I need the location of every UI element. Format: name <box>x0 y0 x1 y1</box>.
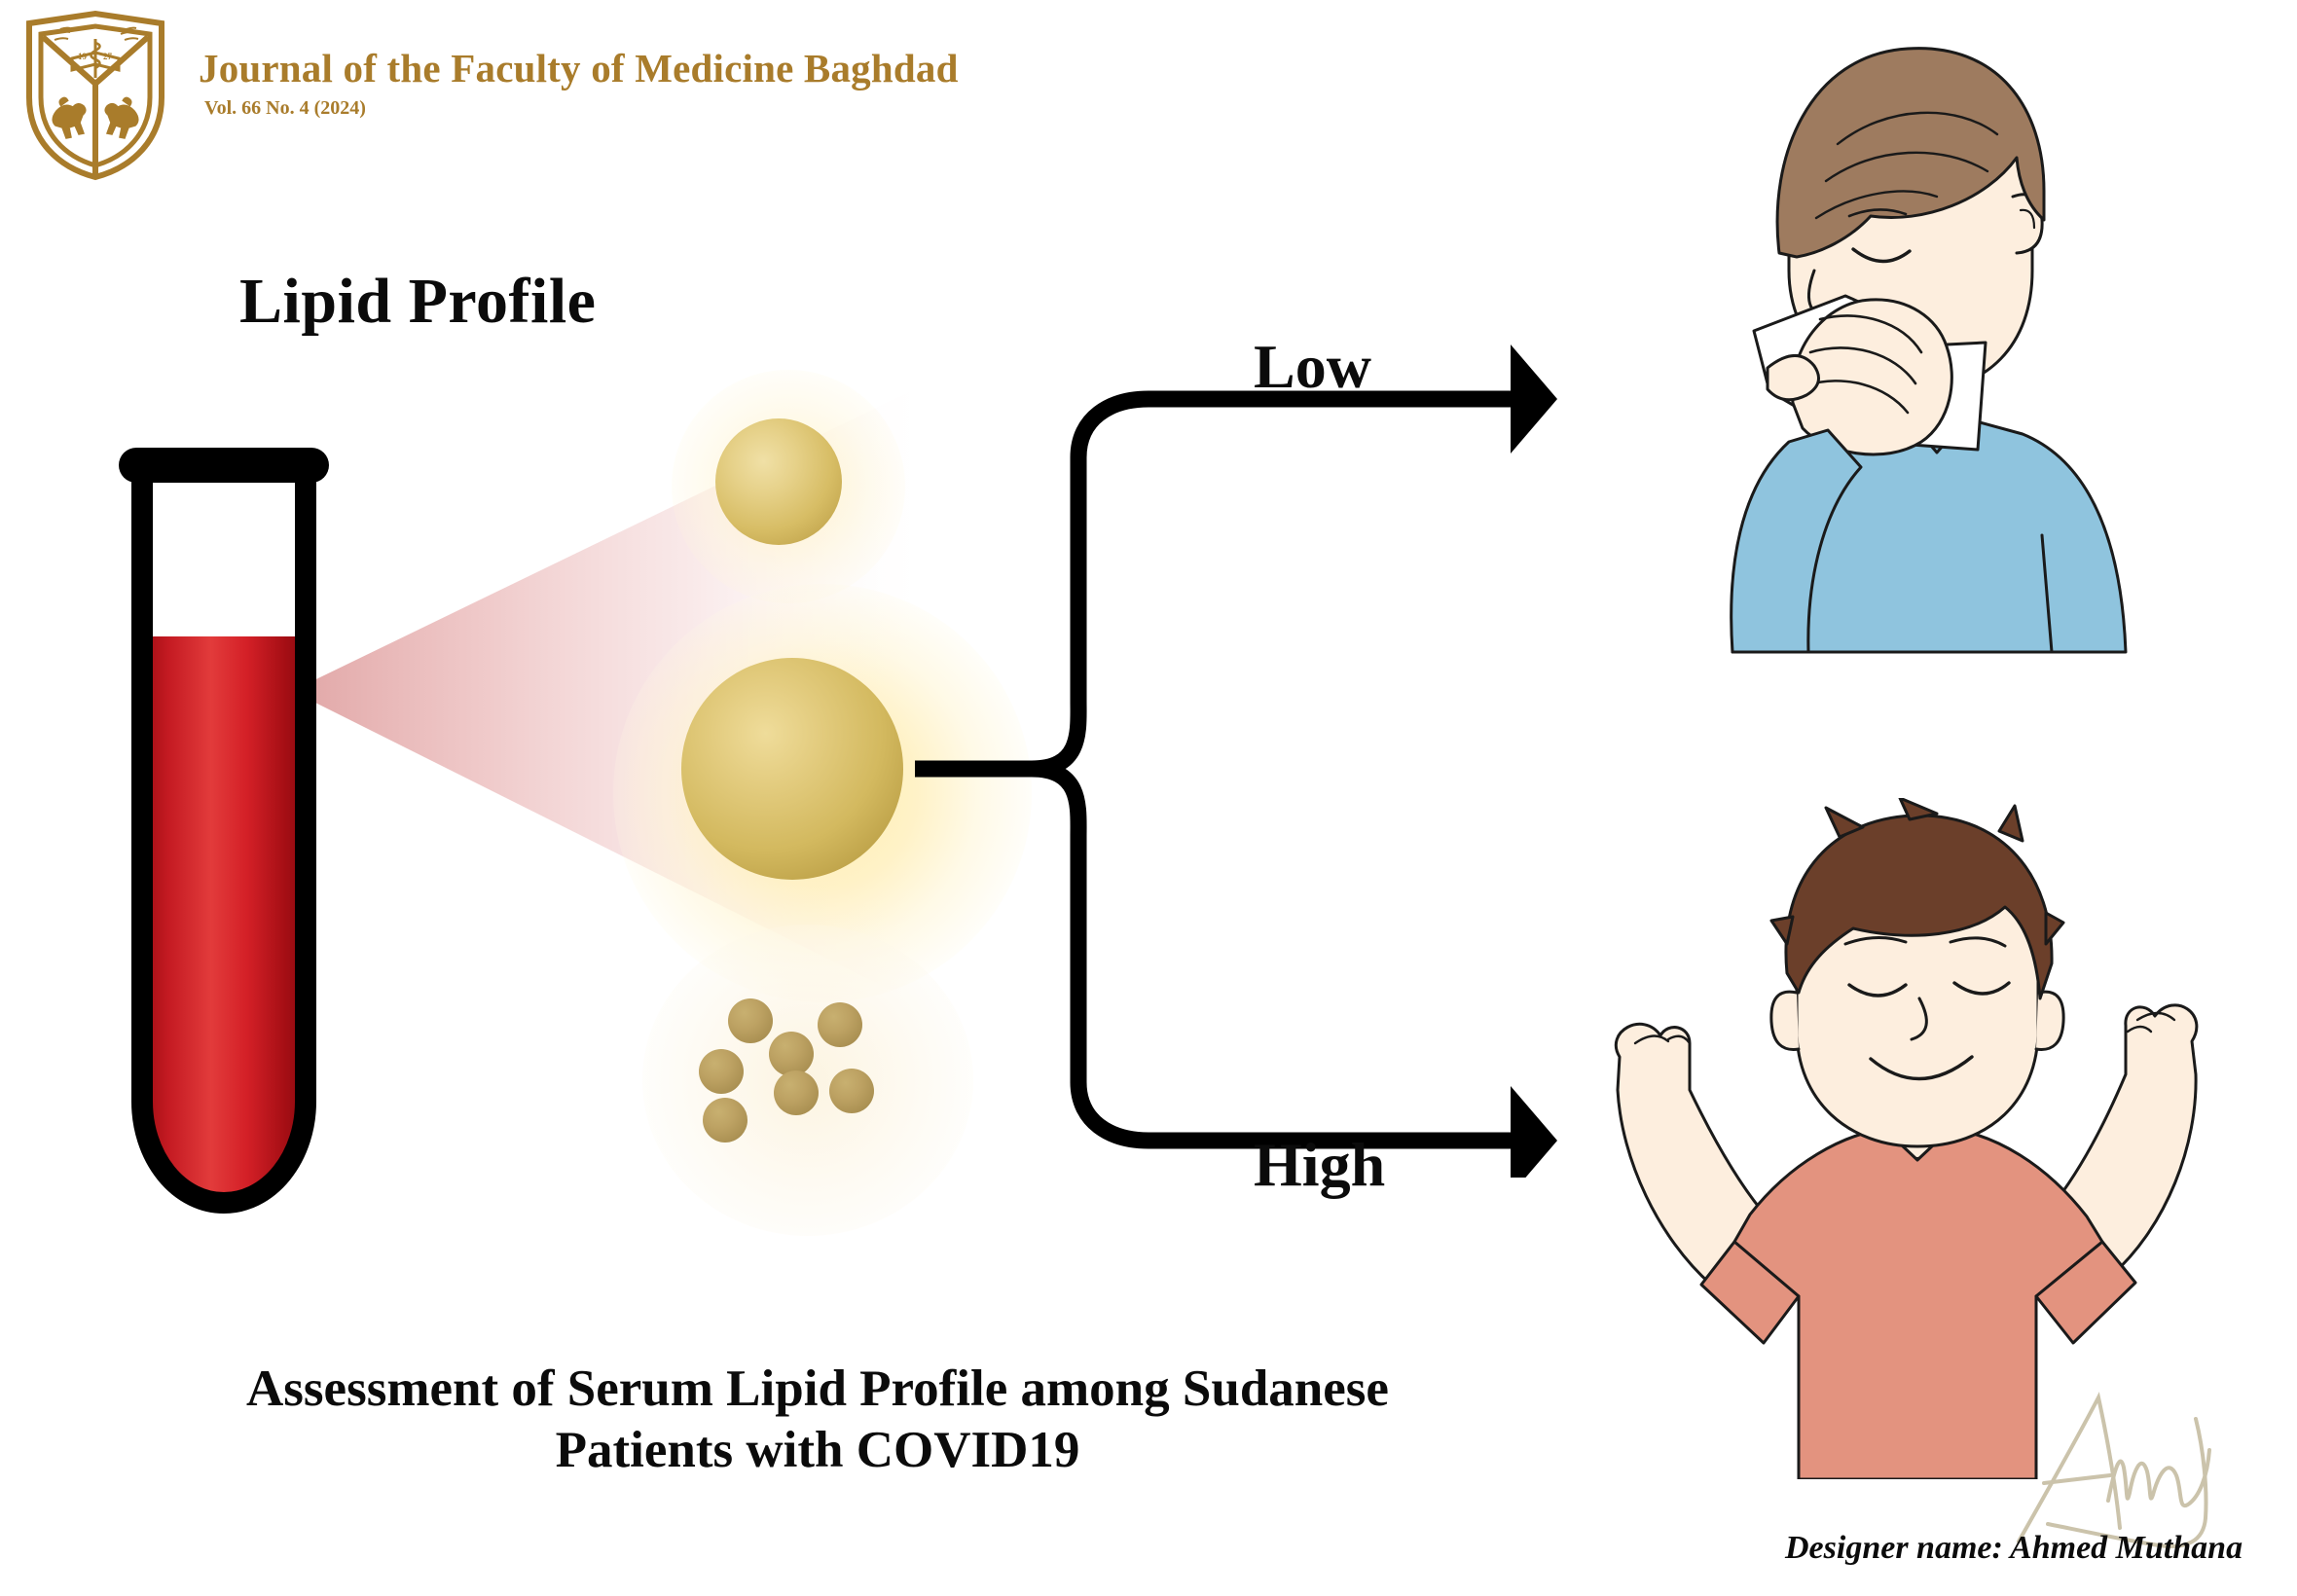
caption-line-1: Assessment of Serum Lipid Profile among … <box>58 1359 1577 1420</box>
crest-year-left: 19 <box>78 52 88 61</box>
caption-line-2: Patients with COVID19 <box>58 1420 1577 1481</box>
university-crest-icon: 19 27 <box>18 8 173 181</box>
lipid-droplet-small <box>703 1098 747 1143</box>
lipid-droplet-small <box>728 998 773 1043</box>
sick-person-icon <box>1616 10 2219 662</box>
arrow-right-icon <box>1511 345 1557 453</box>
journal-title: Journal of the Faculty of Medicine Baghd… <box>199 45 959 91</box>
lipid-droplet-medium <box>715 418 842 545</box>
poster-caption: Assessment of Serum Lipid Profile among … <box>58 1359 1577 1480</box>
crest-year-right: 27 <box>103 52 113 61</box>
arrow-right-icon <box>1511 1086 1557 1178</box>
branch-label-high: High <box>1254 1129 1385 1201</box>
designer-credit: Designer name: Ahmed Muthana <box>1785 1530 2242 1567</box>
branching-arrows <box>915 321 1557 1178</box>
branch-label-low: Low <box>1254 331 1371 403</box>
blood-test-tube-icon <box>117 420 331 1228</box>
journal-header: 19 27 Journal of the Faculty of Medicine… <box>0 0 1071 185</box>
lipid-droplet-large <box>681 658 903 880</box>
lipid-droplet-small <box>829 1069 874 1113</box>
arrow-path-high <box>1032 769 1528 1141</box>
lipid-droplet-small <box>699 1049 744 1094</box>
infographic-poster: 19 27 Journal of the Faculty of Medicine… <box>0 0 2297 1596</box>
healthy-person-flexing-icon <box>1596 798 2239 1479</box>
lipid-droplet-small <box>774 1070 819 1115</box>
journal-volume: Vol. 66 No. 4 (2024) <box>204 97 366 120</box>
arrow-path-low <box>1032 399 1528 769</box>
lipid-droplet-small <box>818 1002 862 1047</box>
lipid-profile-heading: Lipid Profile <box>239 265 596 339</box>
lipid-droplet-small <box>769 1032 814 1076</box>
